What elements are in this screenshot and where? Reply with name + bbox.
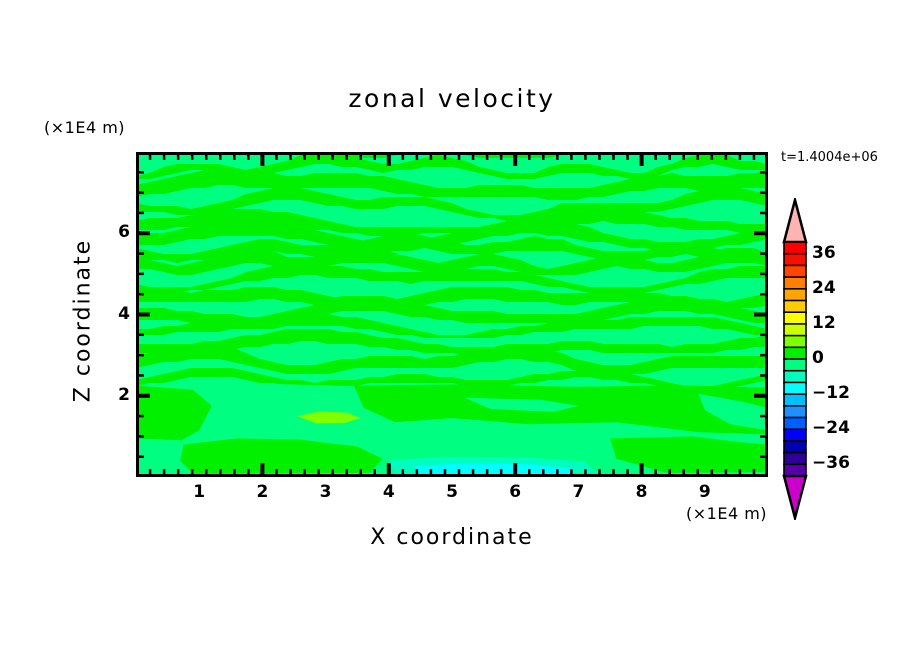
colorbar-band — [784, 464, 806, 476]
colorbar-band — [784, 289, 806, 301]
x-tick-label: 8 — [627, 482, 657, 502]
x-tick-label: 7 — [563, 482, 593, 502]
colorbar-band — [784, 254, 806, 266]
contour-field — [136, 152, 768, 477]
x-axis-unit-label: (×1E4 m) — [686, 504, 767, 523]
x-tick-label: 6 — [500, 482, 530, 502]
y-tick-label: 2 — [100, 385, 130, 405]
x-tick-label: 1 — [184, 482, 214, 502]
y-tick-label: 4 — [100, 304, 130, 324]
colorbar-band — [784, 453, 806, 465]
colorbar-band — [784, 406, 806, 418]
colorbar-tick-label: −36 — [812, 453, 850, 473]
x-tick-label: 2 — [247, 482, 277, 502]
colorbar-band — [784, 418, 806, 430]
colorbar-band — [784, 242, 806, 254]
colorbar-tick-label: −24 — [812, 418, 850, 438]
colorbar-tick-label: −12 — [812, 383, 850, 403]
colorbar-band — [784, 277, 806, 289]
y-tick-label: 6 — [100, 222, 130, 242]
y-axis-title: Z coordinate — [71, 191, 96, 451]
colorbar-band — [784, 324, 806, 336]
colorbar-tick-label: 36 — [812, 243, 836, 263]
colorbar-band — [784, 265, 806, 277]
colorbar-band — [784, 371, 806, 383]
figure-canvas: zonal velocity (×1E4 m) (×1E4 m) t=1.400… — [0, 0, 904, 654]
x-tick-label: 5 — [437, 482, 467, 502]
colorbar-over-cap — [784, 200, 806, 242]
colorbar-band — [784, 429, 806, 441]
colorbar-band — [784, 336, 806, 348]
colorbar-band — [784, 347, 806, 359]
colorbar-band — [784, 359, 806, 371]
colorbar-tick-label: 24 — [812, 278, 836, 298]
colorbar-band — [784, 382, 806, 394]
colorbar-swatches — [780, 198, 812, 520]
colorbar — [780, 198, 812, 520]
colorbar-band — [784, 441, 806, 453]
colorbar-band — [784, 312, 806, 324]
time-stamp: t=1.4004e+06 — [781, 150, 878, 165]
x-tick-label: 4 — [374, 482, 404, 502]
x-axis-title: X coordinate — [136, 525, 768, 550]
colorbar-band — [784, 394, 806, 406]
x-tick-label: 3 — [311, 482, 341, 502]
colorbar-tick-label: 0 — [812, 348, 824, 368]
colorbar-band — [784, 301, 806, 313]
page-title: zonal velocity — [0, 84, 904, 113]
colorbar-tick-label: 12 — [812, 313, 836, 333]
x-tick-label: 9 — [690, 482, 720, 502]
colorbar-under-cap — [784, 476, 806, 518]
plot-area — [136, 152, 768, 477]
y-axis-unit-label: (×1E4 m) — [44, 118, 125, 137]
